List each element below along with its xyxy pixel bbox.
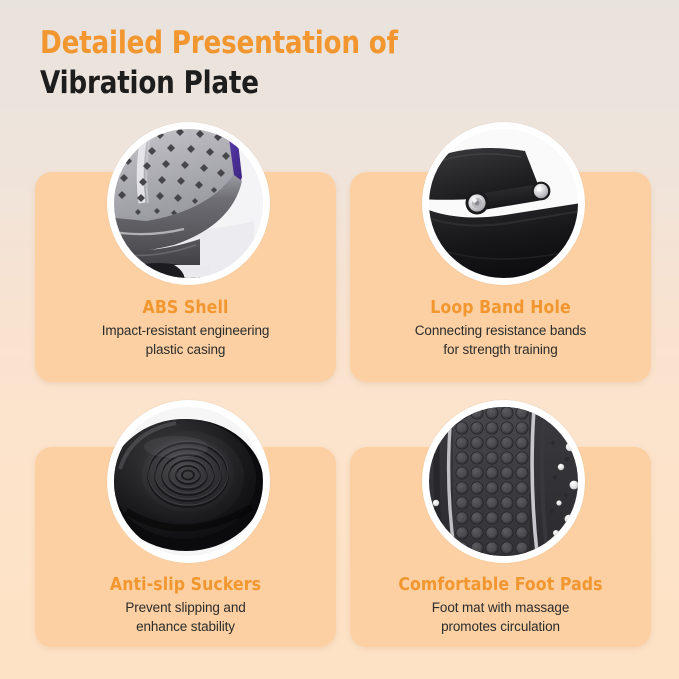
page-title: Detailed Presentation of Vibration Plate [40,24,600,102]
card-description-line-1: Foot mat with massage [350,599,651,618]
card-description-line-1: Connecting resistance bands [350,322,651,341]
card-text-block: Comfortable Foot Pads Foot mat with mass… [350,574,651,636]
card-title: Comfortable Foot Pads [350,574,651,596]
foot-pad-photo-inner [429,407,578,556]
card-description-line-2: plastic casing [35,341,336,360]
loop-band-illustration [429,129,578,278]
card-description-line-2: promotes circulation [350,618,651,637]
card-title: Loop Band Hole [350,297,651,319]
card-text-block: Loop Band Hole Connecting resistance ban… [350,297,651,359]
anti-slip-sucker-photo-inner [114,407,263,556]
card-description: Connecting resistance bands for strength… [350,322,651,359]
abs-shell-illustration [114,129,263,278]
card-description: Prevent slipping and enhance stability [35,599,336,636]
anti-slip-sucker-photo [107,400,270,563]
card-description-line-2: for strength training [350,341,651,360]
card-description: Impact-resistant engineering plastic cas… [35,322,336,359]
title-line-2: Vibration Plate [40,64,566,102]
card-title: Anti-slip Suckers [35,574,336,596]
loop-band-hole-photo-inner [429,129,578,278]
card-description-line-1: Impact-resistant engineering [35,322,336,341]
card-text-block: ABS Shell Impact-resistant engineering p… [35,297,336,359]
foot-pad-photo [422,400,585,563]
product-feature-infographic: Detailed Presentation of Vibration Plate… [0,0,679,679]
abs-shell-photo-inner [114,129,263,278]
card-text-block: Anti-slip Suckers Prevent slipping and e… [35,574,336,636]
card-description: Foot mat with massage promotes circulati… [350,599,651,636]
card-description-line-1: Prevent slipping and [35,599,336,618]
loop-band-hole-photo [422,122,585,285]
abs-shell-photo [107,122,270,285]
foot-pad-texture-illustration [429,407,578,556]
card-description-line-2: enhance stability [35,618,336,637]
title-line-1: Detailed Presentation of [40,24,566,62]
suction-cup-illustration [114,407,263,556]
card-title: ABS Shell [35,297,336,319]
